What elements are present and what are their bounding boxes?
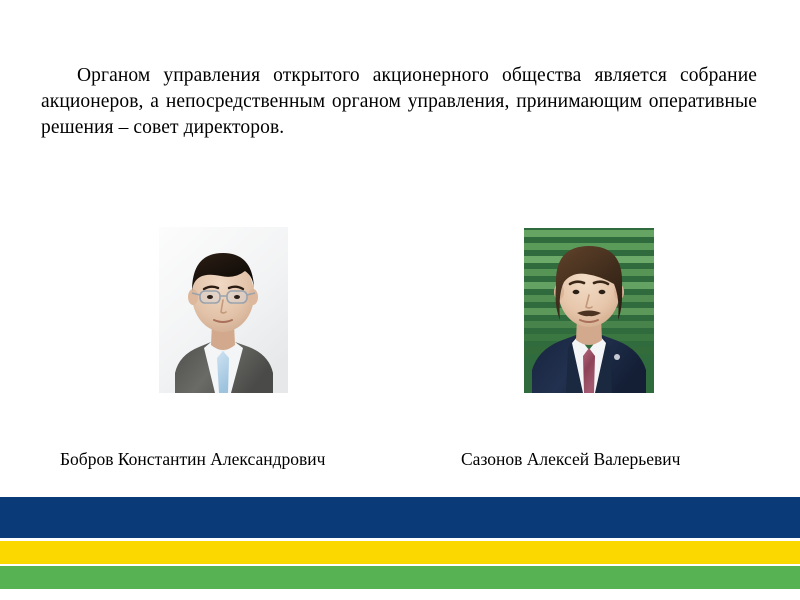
portrait-bobrov-image xyxy=(159,227,288,393)
slide-body-paragraph: Органом управления открытого акционерног… xyxy=(41,63,757,141)
portrait-sazonov xyxy=(524,228,654,393)
footer-band-green xyxy=(0,566,800,589)
portrait-sazonov-image xyxy=(524,228,654,393)
portrait-bobrov xyxy=(159,227,288,393)
footer-band-navy xyxy=(0,497,800,538)
footer-band-yellow xyxy=(0,541,800,564)
person-name-bobrov: Бобров Константин Александрович xyxy=(60,447,440,472)
footer-band-group xyxy=(0,488,800,600)
slide-canvas: Органом управления открытого акционерног… xyxy=(0,0,800,600)
person-name-sazonov: Сазонов Алексей Валерьевич xyxy=(461,447,781,472)
